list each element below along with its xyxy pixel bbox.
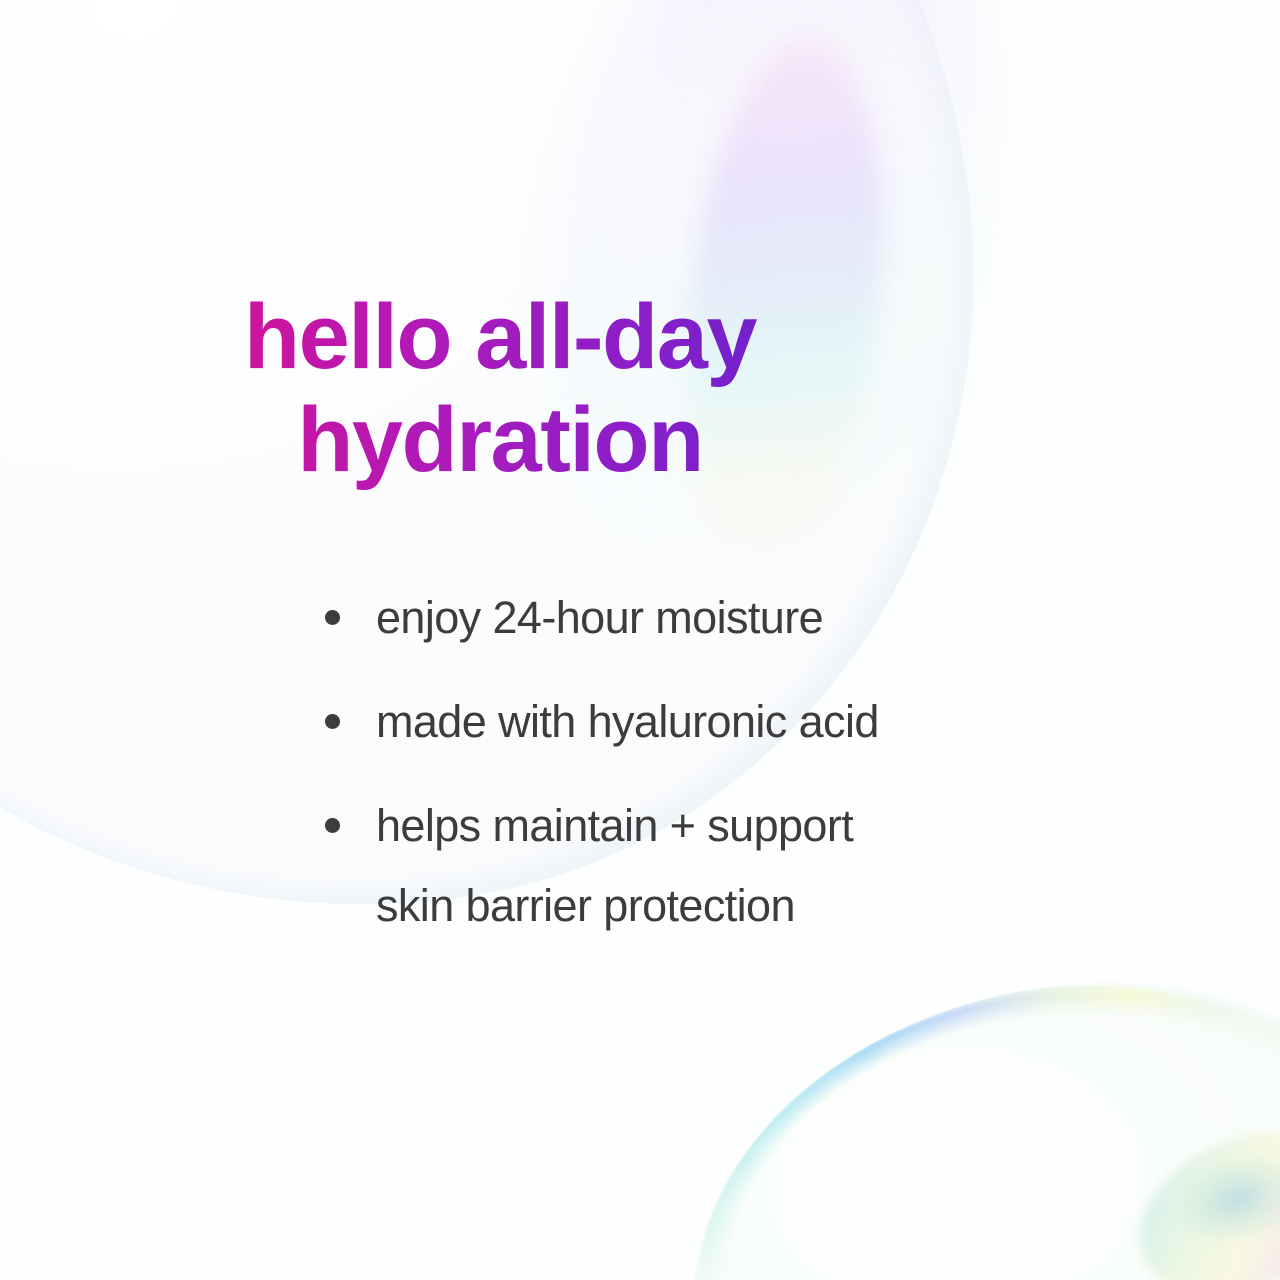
bullet-dot-icon: [325, 714, 340, 729]
list-item: made with hyaluronic acid: [318, 682, 1118, 762]
list-item: enjoy 24-hour moisture: [318, 578, 1118, 658]
benefit-text-wrap: skin barrier protection: [376, 866, 1118, 946]
headline-line-1: hello all-day: [0, 286, 1000, 389]
bullet-dot-icon: [325, 818, 340, 833]
benefits-list: enjoy 24-hour moisture made with hyaluro…: [318, 578, 1118, 946]
promo-image: hello all-day hydration enjoy 24-hour mo…: [0, 0, 1280, 1280]
content-layer: hello all-day hydration enjoy 24-hour mo…: [0, 0, 1280, 1280]
page-title: hello all-day hydration: [0, 286, 1000, 492]
benefit-text: helps maintain + support: [376, 800, 853, 851]
headline-line-2: hydration: [0, 389, 1000, 492]
benefit-text: made with hyaluronic acid: [376, 696, 879, 747]
list-item: helps maintain + support skin barrier pr…: [318, 786, 1118, 946]
benefit-text: enjoy 24-hour moisture: [376, 592, 823, 643]
bullet-dot-icon: [325, 610, 340, 625]
